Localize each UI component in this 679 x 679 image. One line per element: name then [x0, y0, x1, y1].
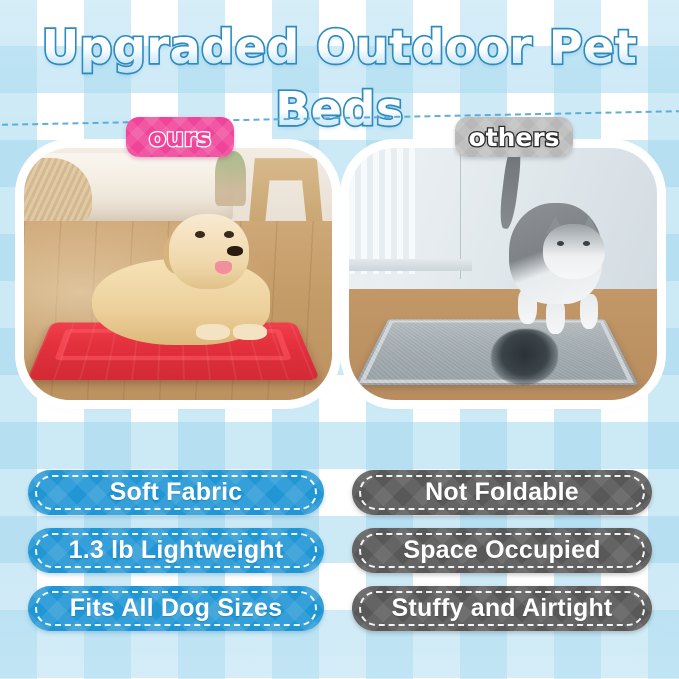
others-feature-label: Stuffy and Airtight	[392, 596, 613, 621]
dog-paw	[233, 324, 267, 339]
cat-head	[543, 224, 605, 279]
others-feature-pill: Space Occupied	[352, 528, 652, 573]
ours-feature-label: Soft Fabric	[110, 480, 243, 505]
dog-paw	[196, 324, 230, 339]
window-curtain	[349, 148, 417, 274]
others-feature-pill: Not Foldable	[352, 470, 652, 515]
dog-eye	[195, 231, 205, 238]
ours-feature-label: Fits All Dog Sizes	[70, 596, 282, 621]
ours-scene	[24, 148, 332, 400]
ours-feature-pill: Fits All Dog Sizes	[28, 586, 324, 631]
cat-leg	[546, 299, 564, 334]
infographic-canvas: Upgraded Outdoor Pet Beds Upgraded Outdo…	[0, 0, 679, 679]
ours-feature-pill: 1.3 lb Lightweight	[28, 528, 324, 573]
others-photo-image	[349, 148, 657, 400]
ours-badge: ours	[126, 117, 234, 157]
ours-feature-pill: Soft Fabric	[28, 470, 324, 515]
others-badge: others	[455, 117, 573, 157]
others-feature-pill: Stuffy and Airtight	[352, 586, 652, 631]
cat-leg	[580, 294, 598, 329]
ours-feature-label: 1.3 lb Lightweight	[69, 538, 284, 563]
page-title: Upgraded Outdoor Pet Beds Upgraded Outdo…	[0, 16, 679, 86]
others-feature-label: Space Occupied	[403, 538, 600, 563]
others-feature-label: Not Foldable	[425, 480, 579, 505]
ours-photo-image	[24, 148, 332, 400]
dog-eye	[224, 231, 234, 238]
dog-tongue	[215, 261, 232, 274]
potted-plant	[215, 151, 246, 206]
others-badge-label: others	[468, 125, 559, 150]
ours-badge-label: ours	[149, 125, 211, 150]
ours-photo	[24, 148, 332, 400]
others-photo	[349, 148, 657, 400]
others-scene	[349, 148, 657, 400]
dog-nose	[227, 246, 242, 256]
